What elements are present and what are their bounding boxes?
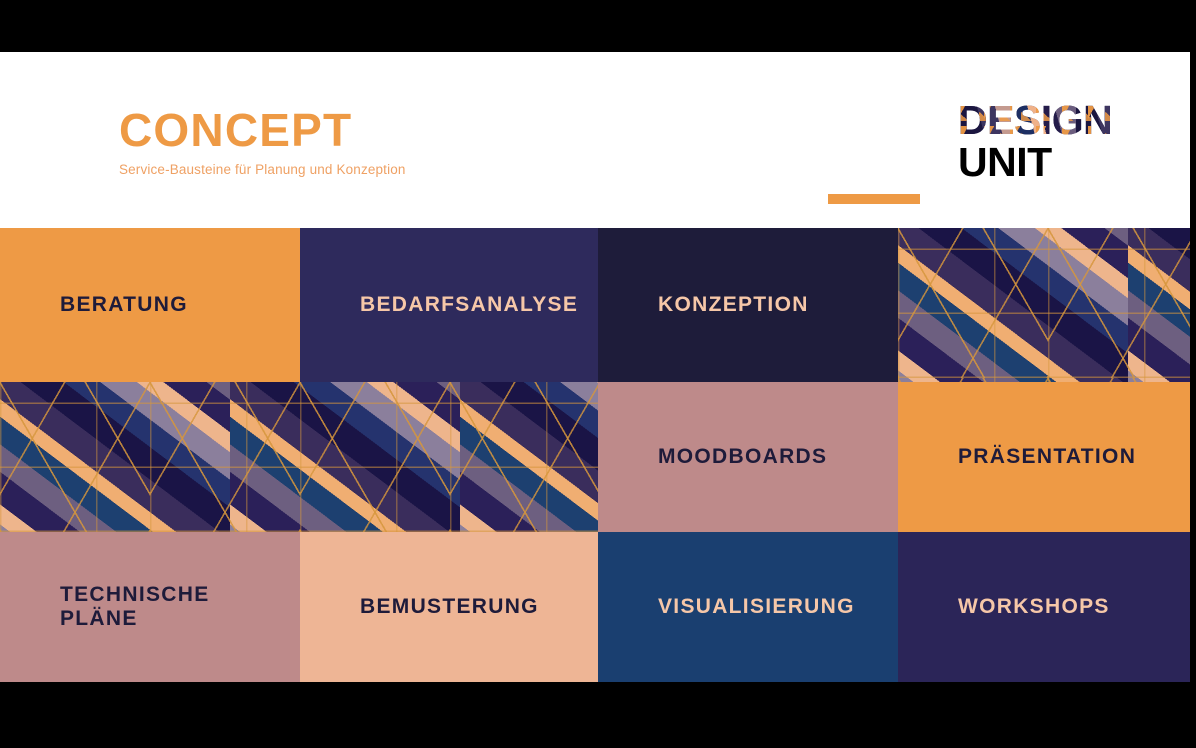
service-tile[interactable]: MOODBOARDS	[598, 382, 898, 532]
design-unit-logo: DESIGN UNIT	[958, 100, 1112, 184]
page-subtitle: Service-Bausteine für Planung und Konzep…	[119, 162, 406, 177]
logo-word-design: DESIGN	[958, 100, 1112, 142]
service-tile[interactable]: BEMUSTERUNG	[300, 532, 598, 682]
bottom-letterbox-bar	[0, 682, 1196, 748]
service-tile-label: MOODBOARDS	[598, 445, 841, 469]
service-tile-grid: BERATUNGBEDARFSANALYSEKONZEPTIONMOODBOAR…	[0, 228, 1190, 682]
brand-block: CONCEPT Service-Bausteine für Planung un…	[119, 107, 406, 177]
service-tile-label: BEDARFSANALYSE	[300, 293, 592, 317]
slide-header: CONCEPT Service-Bausteine für Planung un…	[0, 52, 1190, 228]
accent-rule-divider	[828, 194, 920, 204]
service-tile[interactable]: WORKSHOPS	[898, 532, 1190, 682]
service-tile-label: BEMUSTERUNG	[300, 595, 553, 619]
service-tile[interactable]: VISUALISIERUNG	[598, 532, 898, 682]
service-tile[interactable]: BERATUNG	[0, 228, 300, 382]
right-letterbox-bar	[1190, 52, 1196, 682]
service-tile-label: VISUALISIERUNG	[598, 595, 869, 619]
service-tile[interactable]: PRÄSENTATION	[898, 382, 1190, 532]
service-tile[interactable]: BEDARFSANALYSE	[300, 228, 598, 382]
top-letterbox-bar	[0, 0, 1196, 52]
service-tile-label: KONZEPTION	[598, 293, 823, 317]
pattern-tile	[0, 382, 598, 532]
service-tile-label: PRÄSENTATION	[898, 445, 1150, 469]
logo-word-unit: UNIT	[958, 142, 1112, 184]
service-tile-label: WORKSHOPS	[898, 595, 1124, 619]
pattern-tile	[898, 228, 1190, 382]
service-tile[interactable]: TECHNISCHE PLÄNE	[0, 532, 300, 682]
service-tile-label: BERATUNG	[0, 293, 202, 317]
service-tile[interactable]: KONZEPTION	[598, 228, 898, 382]
page-title: CONCEPT	[119, 107, 406, 153]
service-tile-label: TECHNISCHE PLÄNE	[0, 583, 224, 630]
slide-canvas: CONCEPT Service-Bausteine für Planung un…	[0, 0, 1196, 748]
